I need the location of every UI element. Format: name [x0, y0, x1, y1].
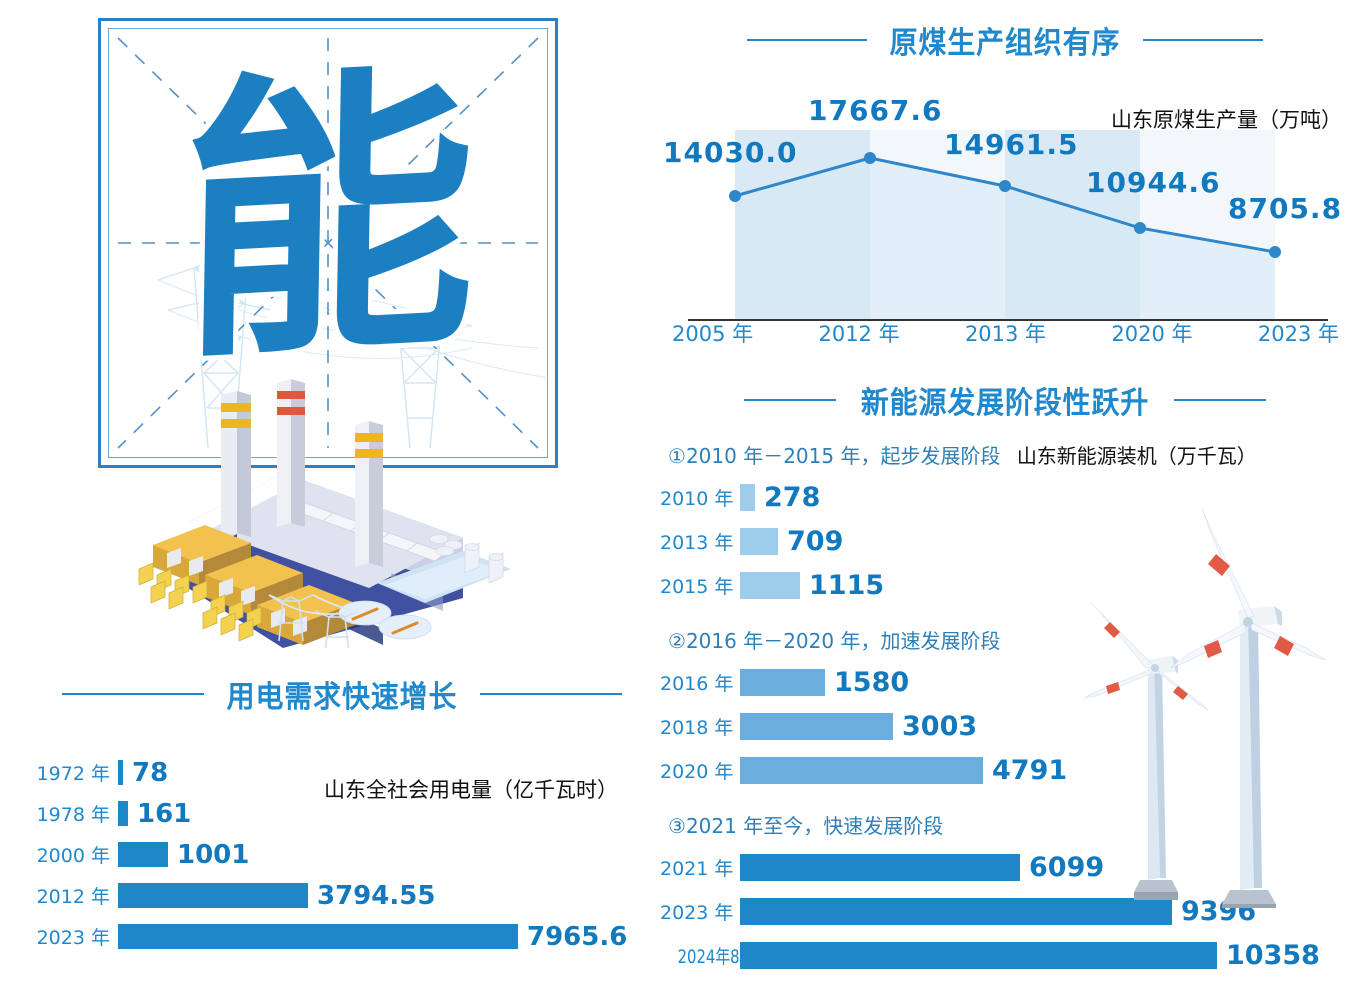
coal-section-heading: 原煤生产组织有序 — [660, 18, 1350, 62]
stage-2-text: 2016 年－2020 年，加速发展阶段 — [686, 629, 1001, 653]
stage-1-label: ①2010 年－2015 年，起步发展阶段 山东新能源装机（万千瓦） — [668, 440, 1350, 469]
x-tick: 2020 年 — [1111, 318, 1192, 348]
coal-point-label: 17667.6 — [808, 94, 943, 127]
stage-1-text: 2010 年－2015 年，起步发展阶段 — [686, 444, 1001, 468]
bar-category-label: 2020 年 — [660, 757, 740, 784]
bar-category-label: 2023 年 — [660, 898, 740, 925]
bar-value-label: 3003 — [893, 711, 977, 742]
electricity-section-title: 用电需求快速增长 — [227, 672, 458, 716]
bar-category-label: 2024年8月 — [678, 942, 740, 969]
bar-category-label: 1978 年 — [32, 800, 118, 827]
bar-value-label: 1580 — [825, 667, 909, 698]
electricity-section-heading: 用电需求快速增长 — [32, 672, 652, 716]
coal-section-title: 原煤生产组织有序 — [890, 18, 1121, 62]
bar — [118, 883, 308, 908]
bar-category-label: 2012 年 — [32, 882, 118, 909]
infographic-page: 能 — [0, 0, 1361, 996]
bar — [118, 842, 168, 867]
bar-value-label: 4791 — [983, 755, 1067, 786]
heading-rule-right — [480, 693, 622, 695]
bar-category-label: 2010 年 — [660, 484, 740, 511]
x-tick: 2013 年 — [965, 318, 1046, 348]
electricity-bar-row: 2023 年 7965.6 — [32, 916, 652, 957]
electricity-bar-row: 2012 年 3794.55 — [32, 875, 652, 916]
bar — [740, 669, 825, 696]
wind-turbines-illustration — [1062, 488, 1361, 908]
bar-category-label: 2021 年 — [660, 854, 740, 881]
bar — [740, 942, 1217, 969]
bar — [740, 757, 983, 784]
bar-value-label: 1115 — [800, 570, 884, 601]
bar-value-label: 161 — [128, 799, 191, 829]
x-tick: 2023 年 — [1258, 318, 1339, 348]
bar-value-label: 709 — [778, 526, 843, 557]
new-energy-bar-row: 2024年8月 10358 — [660, 933, 1350, 977]
heading-rule-left — [62, 693, 204, 695]
heading-rule-left — [744, 399, 836, 401]
new-energy-section-heading: 新能源发展阶段性跃升 — [660, 378, 1350, 422]
bar-value-label: 1001 — [168, 840, 249, 870]
bar — [118, 924, 518, 949]
new-energy-section-title: 新能源发展阶段性跃升 — [861, 378, 1149, 422]
bar-value-label: 7965.6 — [518, 922, 627, 952]
bar-value-label: 3794.55 — [308, 881, 435, 911]
hero-character: 能 — [90, 1, 566, 434]
bar — [740, 528, 778, 555]
electricity-demand-section: 用电需求快速增长 山东全社会用电量（亿千瓦时） 1972 年 78 1978 年… — [32, 672, 652, 957]
stage-3-text: 2021 年至今，快速发展阶段 — [686, 814, 943, 838]
bar — [740, 484, 755, 511]
bar-category-label: 2016 年 — [660, 669, 740, 696]
electricity-bar-row: 2000 年 1001 — [32, 834, 652, 875]
bar — [740, 854, 1020, 881]
heading-rule-left — [747, 39, 867, 41]
bar-category-label: 2023 年 — [32, 923, 118, 950]
bar — [740, 713, 893, 740]
coal-x-axis-labels: 2005 年 2012 年 2013 年 2020 年 2023 年 — [668, 318, 1343, 348]
coal-point-label: 14961.5 — [944, 128, 1079, 161]
x-tick: 2005 年 — [672, 318, 753, 348]
bar-category-label: 2000 年 — [32, 841, 118, 868]
electricity-unit-label: 山东全社会用电量（亿千瓦时） — [324, 774, 618, 804]
stage-3-marker: ③ — [668, 814, 686, 838]
power-plant-illustration — [133, 373, 533, 648]
bar-category-label: 2015 年 — [660, 572, 740, 599]
bar-category-label: 2013 年 — [660, 528, 740, 555]
coal-production-section: 原煤生产组织有序 山东原煤生产量（万吨） — [660, 18, 1350, 338]
bar-category-label: 2018 年 — [660, 713, 740, 740]
bar-category-label: 1972 年 — [32, 759, 118, 786]
stage-2-marker: ② — [668, 629, 686, 653]
hero-illustration: 能 — [98, 18, 558, 468]
coal-point-label: 10944.6 — [1086, 166, 1221, 199]
coal-line-chart: 14030.0 17667.6 14961.5 10944.6 8705.8 — [668, 130, 1343, 330]
coal-point-label: 8705.8 — [1228, 192, 1342, 225]
new-energy-unit-label: 山东新能源装机（万千瓦） — [1017, 444, 1257, 468]
bar — [118, 801, 128, 826]
coal-point-label: 14030.0 — [663, 136, 798, 169]
bar-value-label: 78 — [123, 758, 168, 788]
heading-rule-right — [1143, 39, 1263, 41]
bar-value-label: 278 — [755, 482, 820, 513]
x-tick: 2012 年 — [818, 318, 899, 348]
bar-value-label: 10358 — [1217, 940, 1320, 971]
stage-1-marker: ① — [668, 444, 686, 468]
bar — [740, 572, 800, 599]
heading-rule-right — [1174, 399, 1266, 401]
